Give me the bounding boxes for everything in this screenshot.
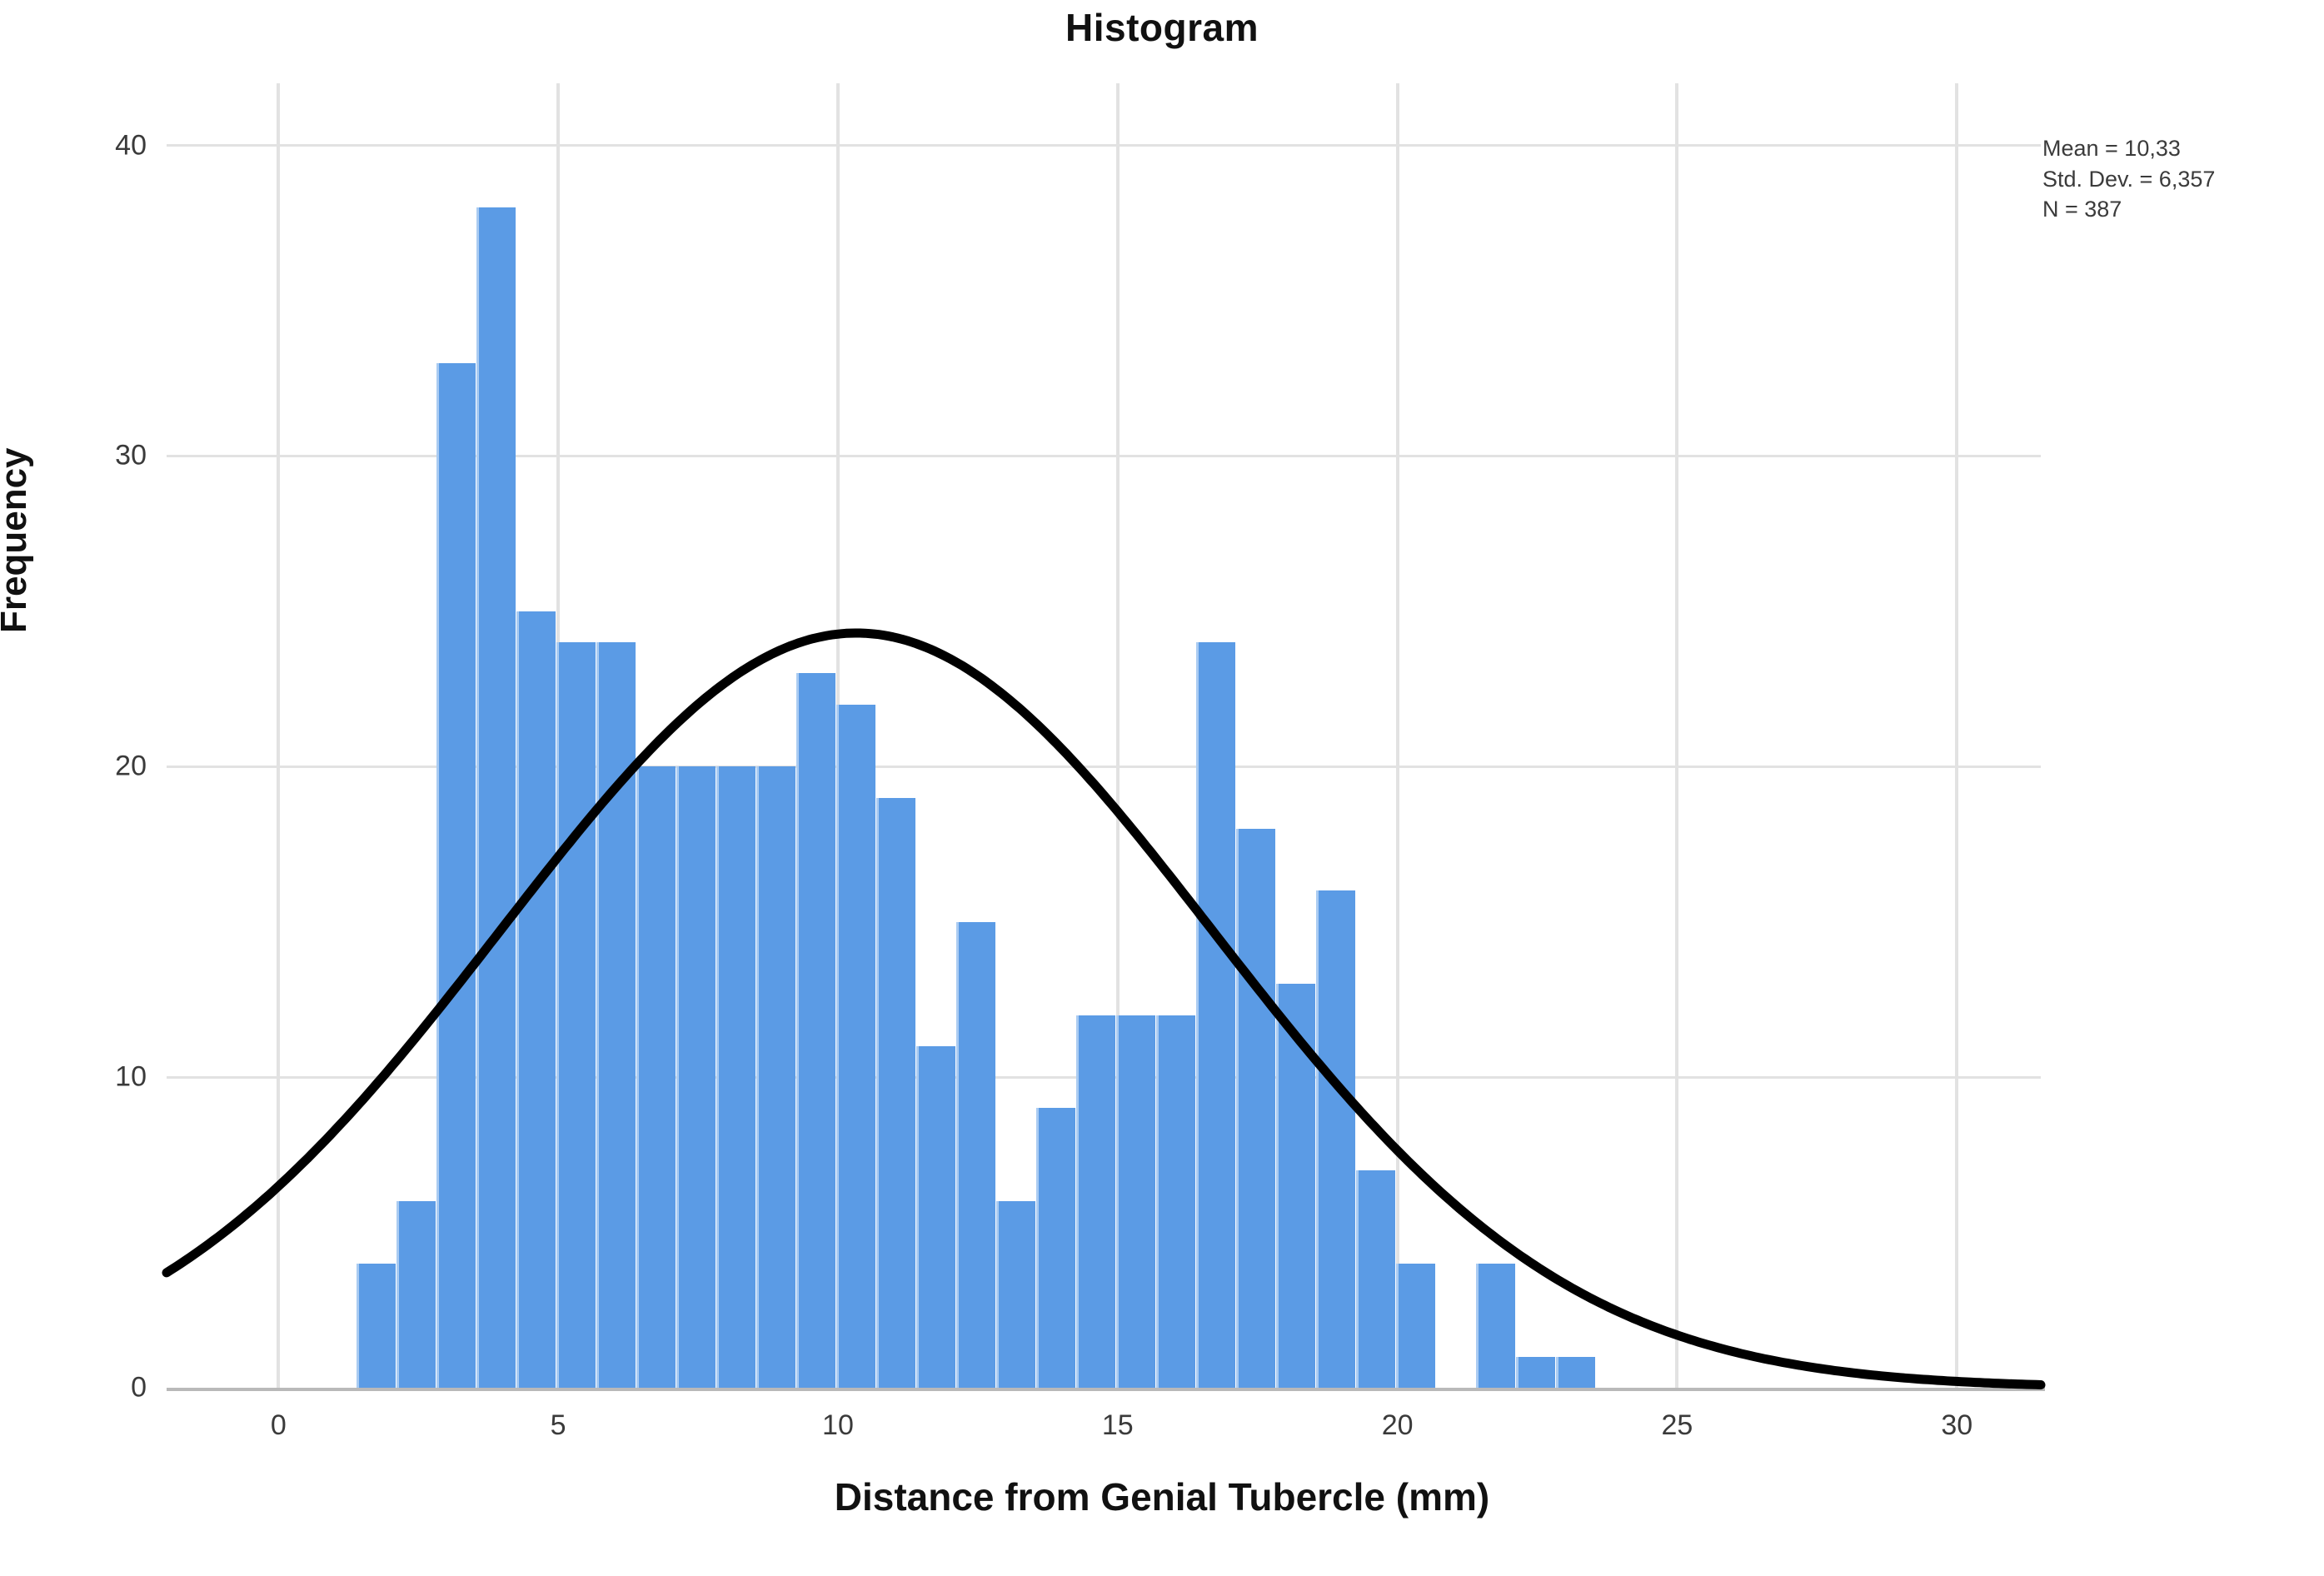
y-tick-label: 30 bbox=[115, 440, 147, 472]
x-tick-label: 10 bbox=[822, 1409, 854, 1442]
histogram-figure: Histogram 010203040 Frequency Distance f… bbox=[0, 0, 2324, 1576]
stat-mean: Mean = 10,33 bbox=[2042, 133, 2292, 164]
x-axis-label: Distance from Genial Tubercle (mm) bbox=[0, 1474, 2324, 1519]
x-tick-label: 15 bbox=[1102, 1409, 1134, 1442]
plot-area bbox=[167, 83, 2041, 1388]
y-tick-label: 20 bbox=[115, 751, 147, 783]
y-tick-label: 40 bbox=[115, 129, 147, 162]
x-tick-label: 5 bbox=[551, 1409, 566, 1442]
y-tick-label: 0 bbox=[131, 1372, 147, 1404]
normal-distribution-curve bbox=[167, 83, 2041, 1388]
x-tick-label: 0 bbox=[271, 1409, 287, 1442]
x-tick-label: 25 bbox=[1662, 1409, 1693, 1442]
stat-n: N = 387 bbox=[2042, 194, 2292, 225]
y-axis-label: Frequency bbox=[0, 447, 35, 633]
chart-title: Histogram bbox=[0, 5, 2324, 50]
stat-std-dev: Std. Dev. = 6,357 bbox=[2042, 164, 2292, 195]
x-tick-label: 30 bbox=[1941, 1409, 1972, 1442]
y-tick-label: 10 bbox=[115, 1061, 147, 1094]
y-axis-tick-labels: 010203040 bbox=[0, 0, 148, 1576]
statistics-annotation: Mean = 10,33 Std. Dev. = 6,357 N = 387 bbox=[2042, 133, 2292, 225]
x-tick-label: 20 bbox=[1382, 1409, 1414, 1442]
